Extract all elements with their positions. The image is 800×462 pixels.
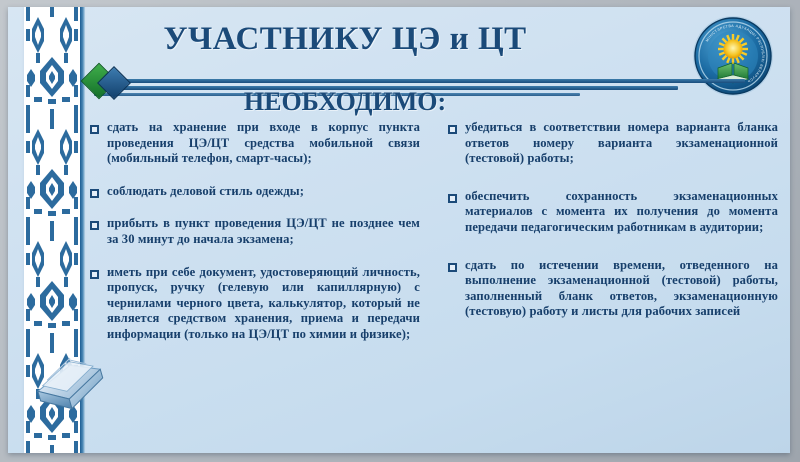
list-item: сдать на хранение при входе в корпус пун… [90, 120, 420, 167]
list-item-text: убедиться в соответствии номера варианта… [465, 120, 778, 167]
list-item-text: обеспечить сохранность экзаменационных м… [465, 189, 778, 236]
slide-frame: МІНІСТЭРСТВА АДУКАЦЫІ РЭСПУБЛІКІ БЕЛАРУС… [0, 0, 800, 462]
list-item-text: сдать на хранение при входе в корпус пун… [107, 120, 420, 167]
title-rule-top [94, 79, 745, 83]
page-title: УЧАСТНИКУ ЦЭ и ЦТ [80, 21, 610, 58]
ministry-of-education-belarus-emblem: МІНІСТЭРСТВА АДУКАЦЫІ РЭСПУБЛІКІ БЕЛАРУС… [692, 15, 774, 97]
square-bullet-icon [90, 189, 99, 198]
square-bullet-icon [90, 221, 99, 230]
content-columns: сдать на хранение при входе в корпус пун… [90, 120, 778, 450]
list-item-text: сдать по истечении времени, отведенного … [465, 258, 778, 320]
right-requirements-column: убедиться в соответствии номера варианта… [448, 120, 778, 450]
subtitle: НЕОБХОДИМО: [80, 87, 610, 117]
list-item-text: иметь при себе документ, удостоверяющий … [107, 265, 420, 343]
list-item: обеспечить сохранность экзаменационных м… [448, 189, 778, 236]
list-item: прибыть в пункт проведения ЦЭ/ЦТ не позд… [90, 216, 420, 247]
list-item: соблюдать деловой стиль одежды; [90, 184, 420, 200]
list-item-text: соблюдать деловой стиль одежды; [107, 184, 420, 200]
left-requirements-column: сдать на хранение при входе в корпус пун… [90, 120, 420, 450]
square-bullet-icon [90, 270, 99, 279]
title-block: УЧАСТНИКУ ЦЭ и ЦТ [80, 21, 692, 83]
slide-canvas: МІНІСТЭРСТВА АДУКАЦЫІ РЭСПУБЛІКІ БЕЛАРУС… [8, 7, 790, 453]
list-item: иметь при себе документ, удостоверяющий … [90, 265, 420, 343]
square-bullet-icon [448, 125, 457, 134]
list-item: сдать по истечении времени, отведенного … [448, 258, 778, 320]
list-item: убедиться в соответствии номера варианта… [448, 120, 778, 167]
square-bullet-icon [448, 194, 457, 203]
square-bullet-icon [448, 263, 457, 272]
list-item-text: прибыть в пункт проведения ЦЭ/ЦТ не позд… [107, 216, 420, 247]
square-bullet-icon [90, 125, 99, 134]
